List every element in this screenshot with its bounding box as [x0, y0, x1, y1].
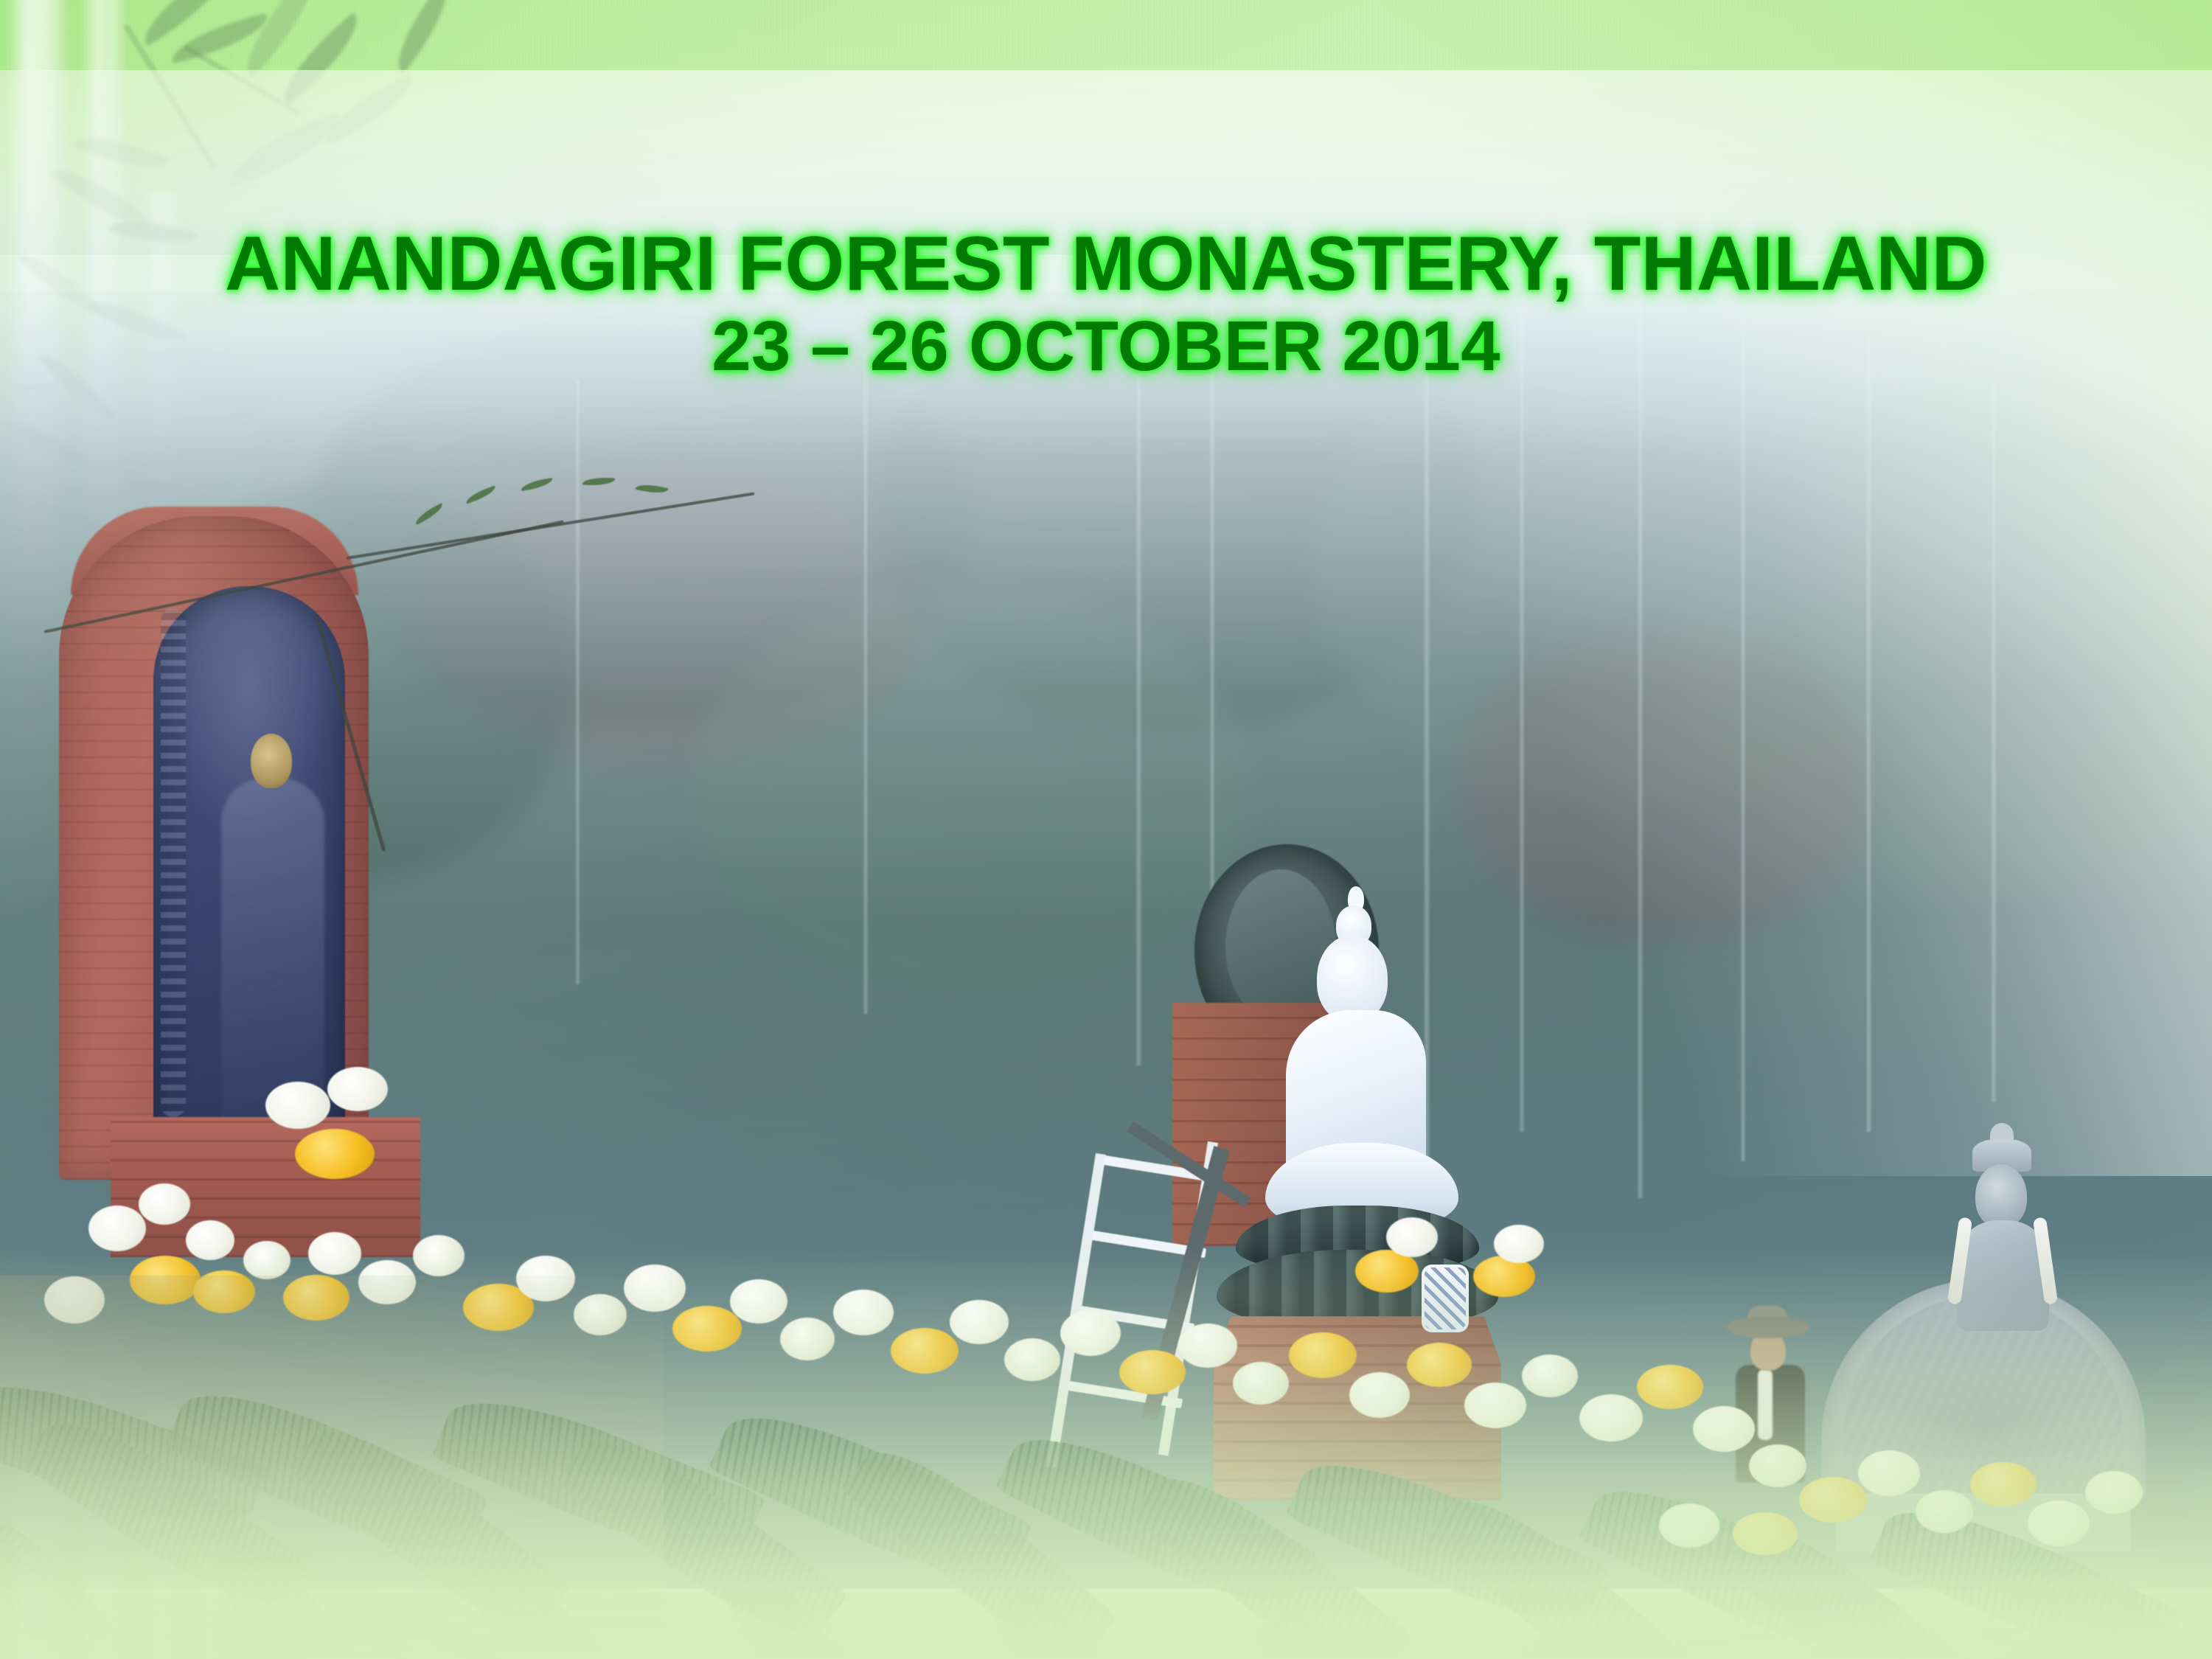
bottom-fade	[0, 1246, 2212, 1659]
monastery-photograph	[0, 70, 2212, 1659]
gilded-statue-face	[251, 734, 292, 788]
top-mist-overlay	[0, 70, 2212, 453]
presentation-slide: ANANDAGIRI FOREST MONASTERY, THAILAND 23…	[0, 0, 2212, 1659]
